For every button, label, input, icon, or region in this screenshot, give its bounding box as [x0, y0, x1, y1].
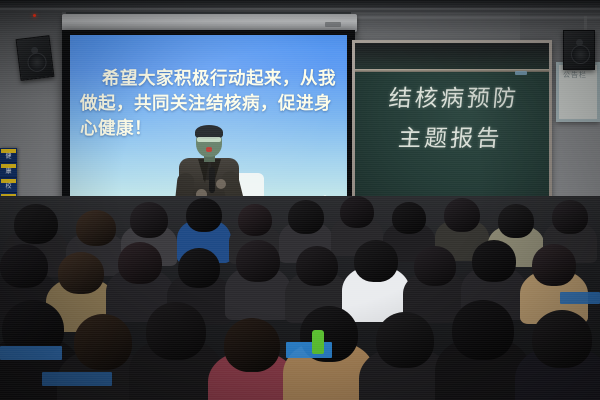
audience-head — [498, 204, 534, 238]
presenter-lapel-left — [198, 159, 209, 183]
audience-head — [452, 300, 514, 360]
audience — [0, 196, 600, 400]
classroom-photo: 希望大家积极行动起来，从我做起，共同关注结核病，促进身心健康！ 结核病预防 主题… — [0, 0, 600, 400]
blackboard: 结核病预防 主题报告 — [355, 43, 549, 215]
audience-head — [340, 196, 374, 228]
banner-cell: 健 — [0, 148, 17, 163]
banner-cell: 校 — [0, 178, 17, 193]
wall-speaker-right — [563, 30, 595, 70]
speaker-power-led — [33, 14, 36, 17]
audience-head — [76, 210, 116, 246]
classroom-desk — [42, 372, 112, 386]
audience-head — [236, 240, 280, 282]
audience-head — [472, 240, 516, 282]
classroom-desk — [560, 292, 600, 304]
blackboard-top-strip — [355, 43, 549, 69]
audience-head — [74, 314, 132, 370]
audience-head — [178, 248, 220, 288]
audience-head — [224, 318, 280, 372]
blackboard-text: 结核病预防 主题报告 — [352, 79, 553, 159]
banner-glyph: 健 — [2, 153, 15, 161]
audience-head — [14, 204, 58, 244]
notice-board: 公告栏 — [556, 62, 600, 122]
banner-cell: 康 — [0, 163, 17, 178]
classroom-desk — [286, 342, 332, 358]
speaker-cone-icon — [571, 45, 590, 64]
blackboard-clip-icon — [515, 71, 527, 75]
audience-head — [552, 200, 588, 234]
audience-head — [376, 312, 434, 368]
blackboard-frame: 结核病预防 主题报告 — [352, 40, 552, 218]
blackboard-line-1: 结核病预防 — [388, 86, 520, 112]
slide-line-1: 希望大家积极行动起来，从 — [102, 69, 318, 89]
green-thermos — [312, 330, 324, 354]
notice-board-text: 公告栏 — [563, 71, 599, 80]
microphone-icon — [209, 167, 215, 193]
audience-head — [146, 302, 206, 360]
audience-head — [354, 240, 398, 282]
banner-glyph: 校 — [2, 183, 15, 191]
audience-head — [58, 252, 104, 294]
audience-head — [118, 242, 162, 284]
wall-conduit — [330, 16, 600, 19]
projection-screen: 希望大家积极行动起来，从我做起，共同关注结核病，促进身心健康！ — [70, 35, 347, 223]
banner-glyph: 康 — [2, 168, 15, 176]
blackboard-line-2: 主题报告 — [352, 119, 549, 159]
audience-head — [532, 310, 592, 368]
presenter-mouth — [206, 147, 212, 152]
housing-badge-icon — [325, 22, 341, 27]
audience-head — [288, 200, 324, 234]
audience-head — [130, 202, 168, 238]
audience-head — [392, 202, 426, 234]
classroom-desk — [0, 346, 62, 360]
audience-head — [186, 198, 222, 232]
presenter-right-hand — [216, 179, 226, 189]
audience-head — [296, 246, 338, 286]
wall-speaker-left — [16, 35, 55, 81]
audience-head — [444, 198, 480, 232]
slide-text: 希望大家积极行动起来，从我做起，共同关注结核病，促进身心健康！ — [80, 67, 338, 142]
audience-head — [0, 244, 48, 288]
audience-head — [532, 244, 576, 286]
audience-head — [414, 246, 456, 286]
audience-head — [238, 204, 272, 236]
speaker-cone-icon — [26, 51, 47, 72]
